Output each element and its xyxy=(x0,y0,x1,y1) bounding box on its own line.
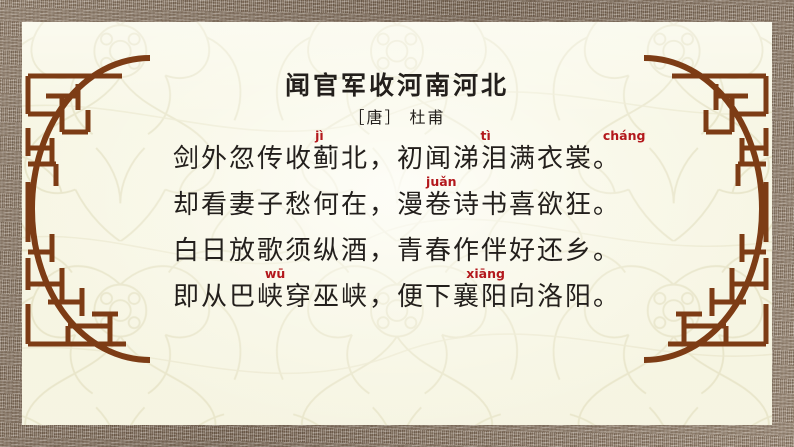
pinyin-annotation: jì xyxy=(315,130,324,143)
poem-content: 闻官军收河南河北 ［唐］ 杜甫 jìtìcháng剑外忽传收蓟北，初闻涕泪满衣裳… xyxy=(120,70,674,314)
poem-line: 白日放歌须纵酒，青春作伴好还乡。 xyxy=(120,222,674,268)
poem-line: wūxiāng即从巴峡穿巫峡，便下襄阳向洛阳。 xyxy=(120,268,674,314)
pinyin-annotation: xiāng xyxy=(466,268,505,281)
pinyin-row: jìtìcháng xyxy=(120,130,674,145)
verse-text: 即从巴峡穿巫峡，便下襄阳向洛阳。 xyxy=(120,283,674,313)
poem-line: jìtìcháng剑外忽传收蓟北，初闻涕泪满衣裳。 xyxy=(120,130,674,176)
poetry-slide: 闻官军收河南河北 ［唐］ 杜甫 jìtìcháng剑外忽传收蓟北，初闻涕泪满衣裳… xyxy=(0,0,794,447)
pinyin-annotation: cháng xyxy=(603,130,646,143)
page-title: 闻官军收河南河北 xyxy=(120,70,674,101)
verse-text: 白日放歌须纵酒，青春作伴好还乡。 xyxy=(120,237,674,267)
pinyin-annotation: wū xyxy=(265,268,285,281)
poem-author: ［唐］ 杜甫 xyxy=(120,104,674,128)
poem-lines: jìtìcháng剑外忽传收蓟北，初闻涕泪满衣裳。juǎn却看妻子愁何在，漫卷诗… xyxy=(120,130,674,314)
pinyin-row: juǎn xyxy=(120,176,674,191)
verse-text: 却看妻子愁何在，漫卷诗书喜欲狂。 xyxy=(120,191,674,221)
poem-line: juǎn却看妻子愁何在，漫卷诗书喜欲狂。 xyxy=(120,176,674,222)
verse-text: 剑外忽传收蓟北，初闻涕泪满衣裳。 xyxy=(120,145,674,175)
pinyin-annotation: tì xyxy=(480,130,490,143)
pinyin-annotation: juǎn xyxy=(426,176,457,189)
pinyin-row xyxy=(120,222,674,237)
pinyin-row: wūxiāng xyxy=(120,268,674,283)
